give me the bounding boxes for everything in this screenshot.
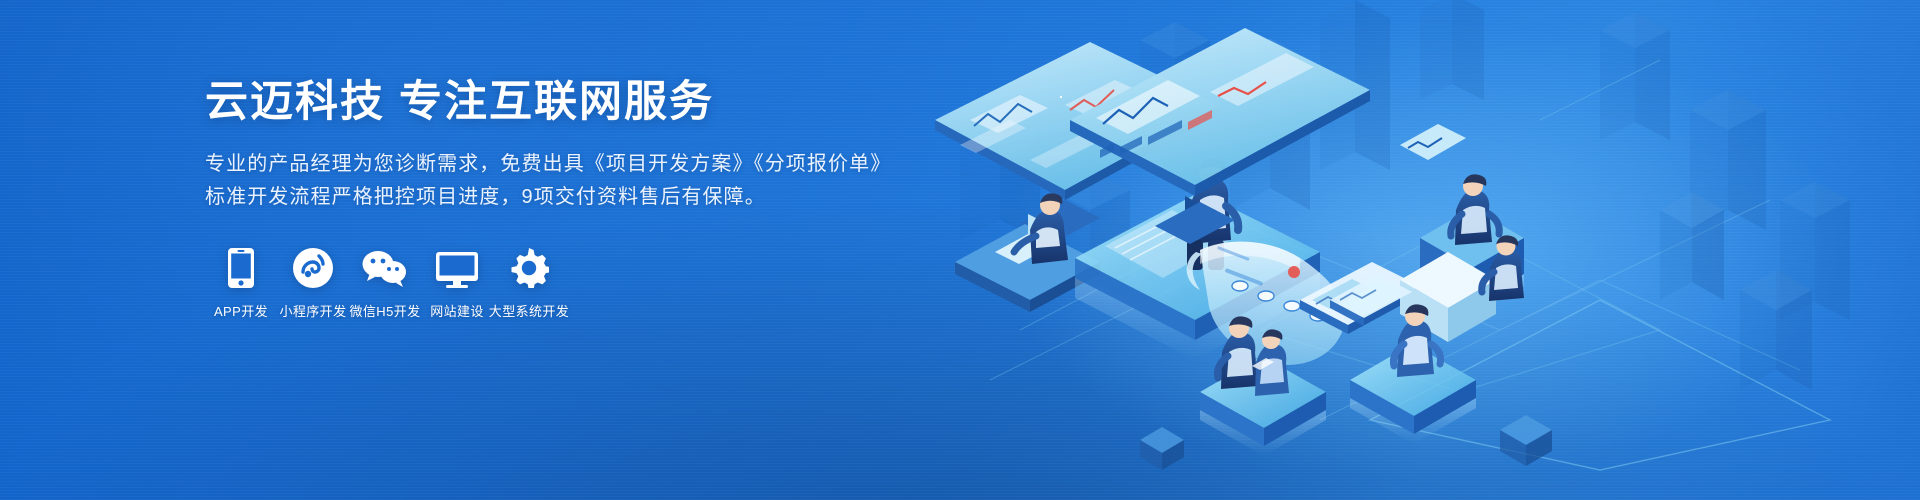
service-item-website[interactable]: 网站建设 <box>421 244 493 320</box>
wechat-icon <box>362 244 408 288</box>
hero-banner: 云迈科技 专注互联网服务 专业的产品经理为您诊断需求，免费出具《项目开发方案》《… <box>0 0 1920 500</box>
gear-icon <box>509 244 549 288</box>
hero-illustration <box>900 0 1920 500</box>
mobile-phone-icon <box>228 244 254 288</box>
service-item-system[interactable]: 大型系统开发 <box>493 244 565 320</box>
subtitle-line-2: 标准开发流程严格把控项目进度，9项交付资料售后有保障。 <box>205 181 925 214</box>
service-icon-list: APP开发 小程序开发 <box>205 244 925 320</box>
service-label-wechat: 微信H5开发 <box>349 301 420 320</box>
service-item-miniprogram[interactable]: 小程序开发 <box>277 244 349 320</box>
service-item-app[interactable]: APP开发 <box>205 244 277 320</box>
hero-content: 云迈科技 专注互联网服务 专业的产品经理为您诊断需求，免费出具《项目开发方案》《… <box>205 0 925 320</box>
service-label-website: 网站建设 <box>430 301 484 320</box>
subtitle-line-1: 专业的产品经理为您诊断需求，免费出具《项目开发方案》《分项报价单》 <box>205 148 925 181</box>
service-label-app: APP开发 <box>214 301 268 320</box>
service-item-wechat[interactable]: 微信H5开发 <box>349 244 421 320</box>
monitor-icon <box>436 244 478 288</box>
page-title: 云迈科技 专注互联网服务 <box>205 78 925 126</box>
service-label-miniprogram: 小程序开发 <box>279 301 346 320</box>
service-label-system: 大型系统开发 <box>489 301 569 320</box>
mini-program-icon <box>293 244 333 288</box>
hero-subtitle: 专业的产品经理为您诊断需求，免费出具《项目开发方案》《分项报价单》 标准开发流程… <box>205 148 925 214</box>
